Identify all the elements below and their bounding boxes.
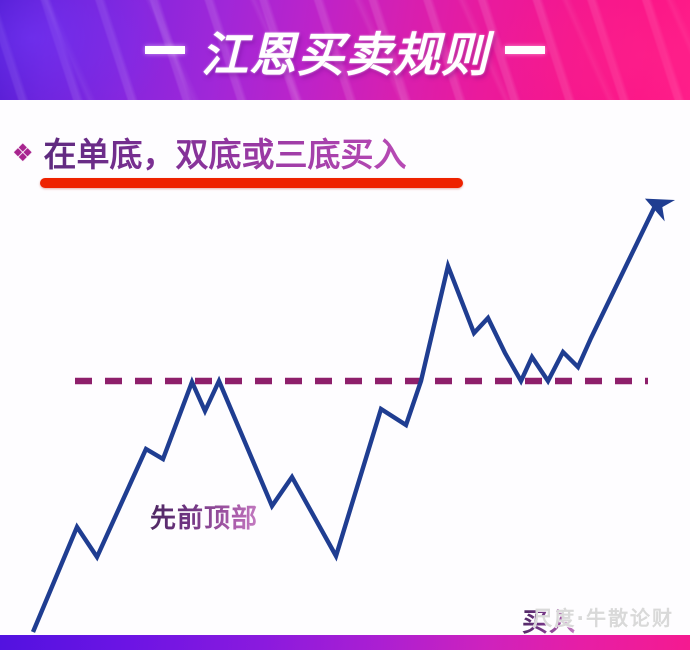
header-right-dash-icon xyxy=(505,46,545,54)
header-content: 江恩买卖规则 xyxy=(0,0,690,100)
price-line xyxy=(33,204,656,632)
price-chart: 先前顶部 买入 xyxy=(0,190,690,635)
diamond-bullet-icon: ❖ xyxy=(12,142,34,166)
bottom-gradient-bar xyxy=(0,635,690,650)
header-left-dash-icon xyxy=(145,46,185,54)
subtitle-text: 在单底，双底或三底买入 xyxy=(44,128,407,176)
previous-top-label: 先前顶部 xyxy=(150,498,258,535)
watermark: 尺度·牛散论财 xyxy=(532,602,674,631)
chart-svg xyxy=(0,190,690,635)
subtitle-underline-bar xyxy=(40,178,463,188)
subtitle-row: ❖ 在单底，双底或三底买入 xyxy=(12,128,407,176)
header-banner: 江恩买卖规则 xyxy=(0,0,690,100)
page-title: 江恩买卖规则 xyxy=(201,16,489,85)
poster-root: 江恩买卖规则 ❖ 在单底，双底或三底买入 xyxy=(0,0,690,650)
